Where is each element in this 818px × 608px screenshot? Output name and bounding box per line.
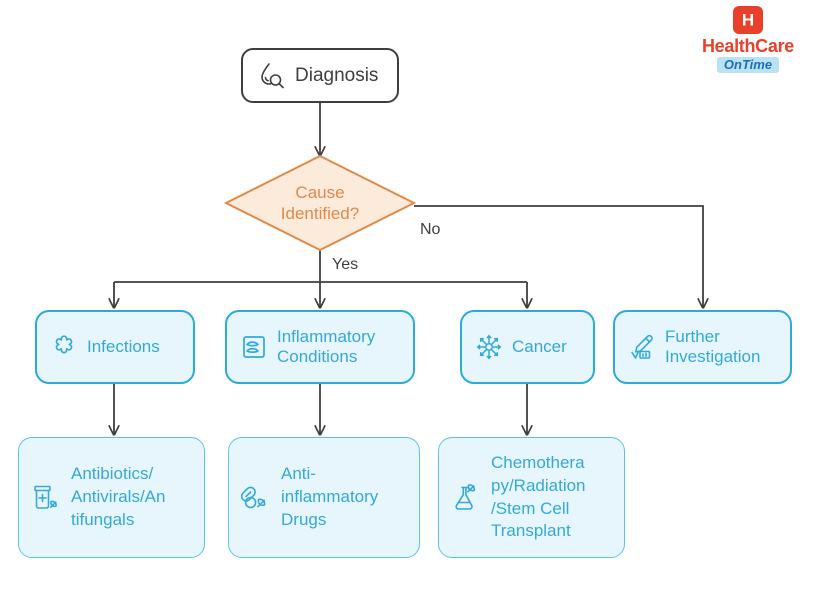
chemotherapy-line-2: py/Radiation (491, 476, 586, 495)
node-further-investigation[interactable]: Further Investigation (613, 310, 792, 384)
node-infections[interactable]: Infections (35, 310, 195, 384)
antibiotics-line-1: Antibiotics/ (71, 464, 153, 483)
virus-cell-icon (49, 332, 79, 362)
decision-label-line1: Cause (295, 183, 344, 202)
brand-logo-mark-icon: H (733, 6, 763, 34)
node-inflammatory-conditions-label: Inflammatory Conditions (277, 327, 401, 368)
decision-label-line2: Identified? (281, 204, 359, 223)
antibiotics-line-3: tifungals (71, 510, 134, 529)
node-anti-inflammatory[interactable]: Anti- inflammatory Drugs (228, 437, 420, 558)
node-cancer-label: Cancer (512, 337, 581, 357)
edge-label-yes: Yes (332, 256, 358, 274)
node-cause-identified-label: Cause Identified? (226, 156, 414, 250)
brand-logo: H HealthCare OnTime (692, 6, 804, 73)
brand-logo-letter: H (733, 12, 763, 29)
node-diagnosis-label: Diagnosis (295, 65, 381, 87)
brand-tagline: OnTime (717, 57, 779, 73)
pill-bottle-icon (29, 481, 63, 515)
antibiotics-line-2: Antivirals/An (71, 487, 165, 506)
edge-decision-no (414, 206, 703, 307)
node-further-investigation-label: Further Investigation (665, 327, 778, 368)
edge-label-no: No (420, 221, 440, 239)
node-chemotherapy-label: Chemothera py/Radiation /Stem Cell Trans… (491, 452, 614, 544)
node-antibiotics-label: Antibiotics/ Antivirals/An tifungals (71, 463, 194, 532)
node-diagnosis[interactable]: Diagnosis (241, 48, 399, 103)
node-cancer[interactable]: Cancer (460, 310, 595, 384)
node-chemotherapy[interactable]: Chemothera py/Radiation /Stem Cell Trans… (438, 437, 625, 558)
anti-inflammatory-line-1: Anti- (281, 464, 316, 483)
anti-inflammatory-line-2: inflammatory (281, 487, 378, 506)
chemotherapy-line-1: Chemothera (491, 453, 585, 472)
chemotherapy-line-4: Transplant (491, 521, 571, 540)
node-anti-inflammatory-label: Anti- inflammatory Drugs (281, 463, 409, 532)
anti-inflammatory-line-3: Drugs (281, 510, 326, 529)
node-antibiotics[interactable]: Antibiotics/ Antivirals/An tifungals (18, 437, 205, 558)
chemotherapy-line-3: /Stem Cell (491, 499, 569, 518)
flask-leaf-icon (449, 481, 483, 515)
node-cause-identified[interactable]: Cause Identified? (226, 156, 414, 250)
capsule-pills-icon (239, 481, 273, 515)
pen-analysis-icon (627, 332, 657, 362)
node-infections-label: Infections (87, 337, 181, 357)
cancer-cell-icon (474, 332, 504, 362)
inflammation-tissue-icon (239, 332, 269, 362)
blood-drop-magnifier-icon (257, 61, 287, 91)
brand-name: HealthCare (692, 37, 804, 55)
node-inflammatory-conditions[interactable]: Inflammatory Conditions (225, 310, 415, 384)
